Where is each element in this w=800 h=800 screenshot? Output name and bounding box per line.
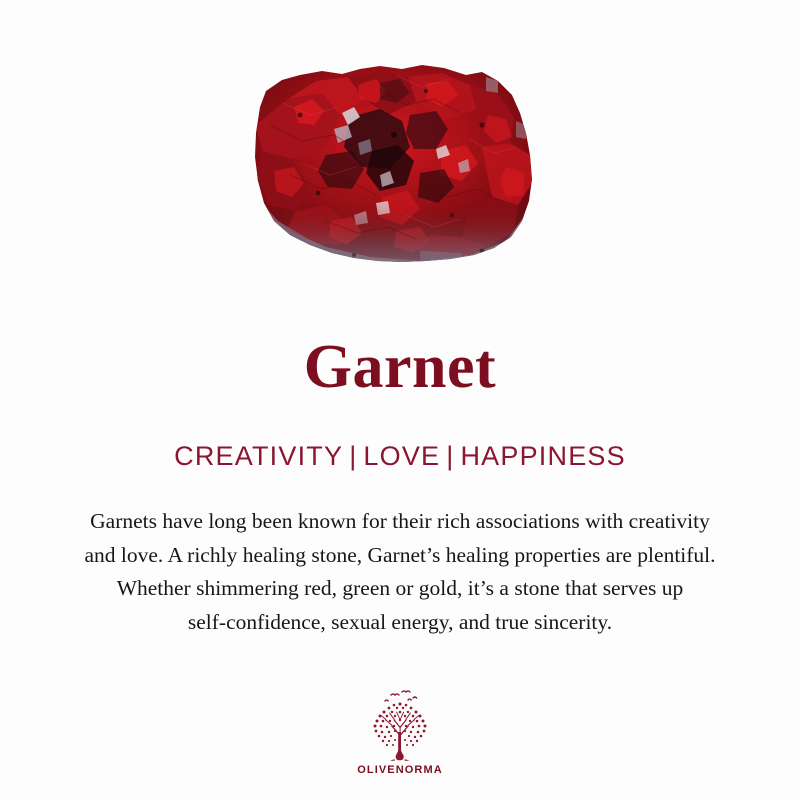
- description-line-4: self-confidence, sexual energy, and true…: [18, 606, 782, 640]
- keyword-separator-1: |: [343, 443, 363, 470]
- hero-image-area: [0, 0, 800, 300]
- keyword-happiness: HAPPINESS: [460, 441, 625, 471]
- page-title: Garnet: [0, 336, 800, 398]
- keyword-separator-2: |: [440, 443, 460, 470]
- brand-wordmark: OLIVENORMA: [0, 765, 800, 776]
- description-paragraph: Garnets have long been known for their r…: [18, 505, 782, 639]
- description-line-3: Whether shimmering red, green or gold, i…: [18, 572, 782, 606]
- garnet-stone-photo: [230, 55, 560, 280]
- keyword-creativity: CREATIVITY: [174, 441, 343, 471]
- keyword-line: CREATIVITY|LOVE|HAPPINESS: [0, 443, 800, 470]
- olivenorma-tree-logo-icon: [361, 686, 439, 762]
- description-line-2: and love. A richly healing stone, Garnet…: [18, 539, 782, 573]
- gemstone-info-card: Garnet CREATIVITY|LOVE|HAPPINESS Garnets…: [0, 0, 800, 800]
- brand-logo: OLIVENORMA: [0, 686, 800, 776]
- keyword-love: LOVE: [363, 441, 440, 471]
- description-line-1: Garnets have long been known for their r…: [18, 505, 782, 539]
